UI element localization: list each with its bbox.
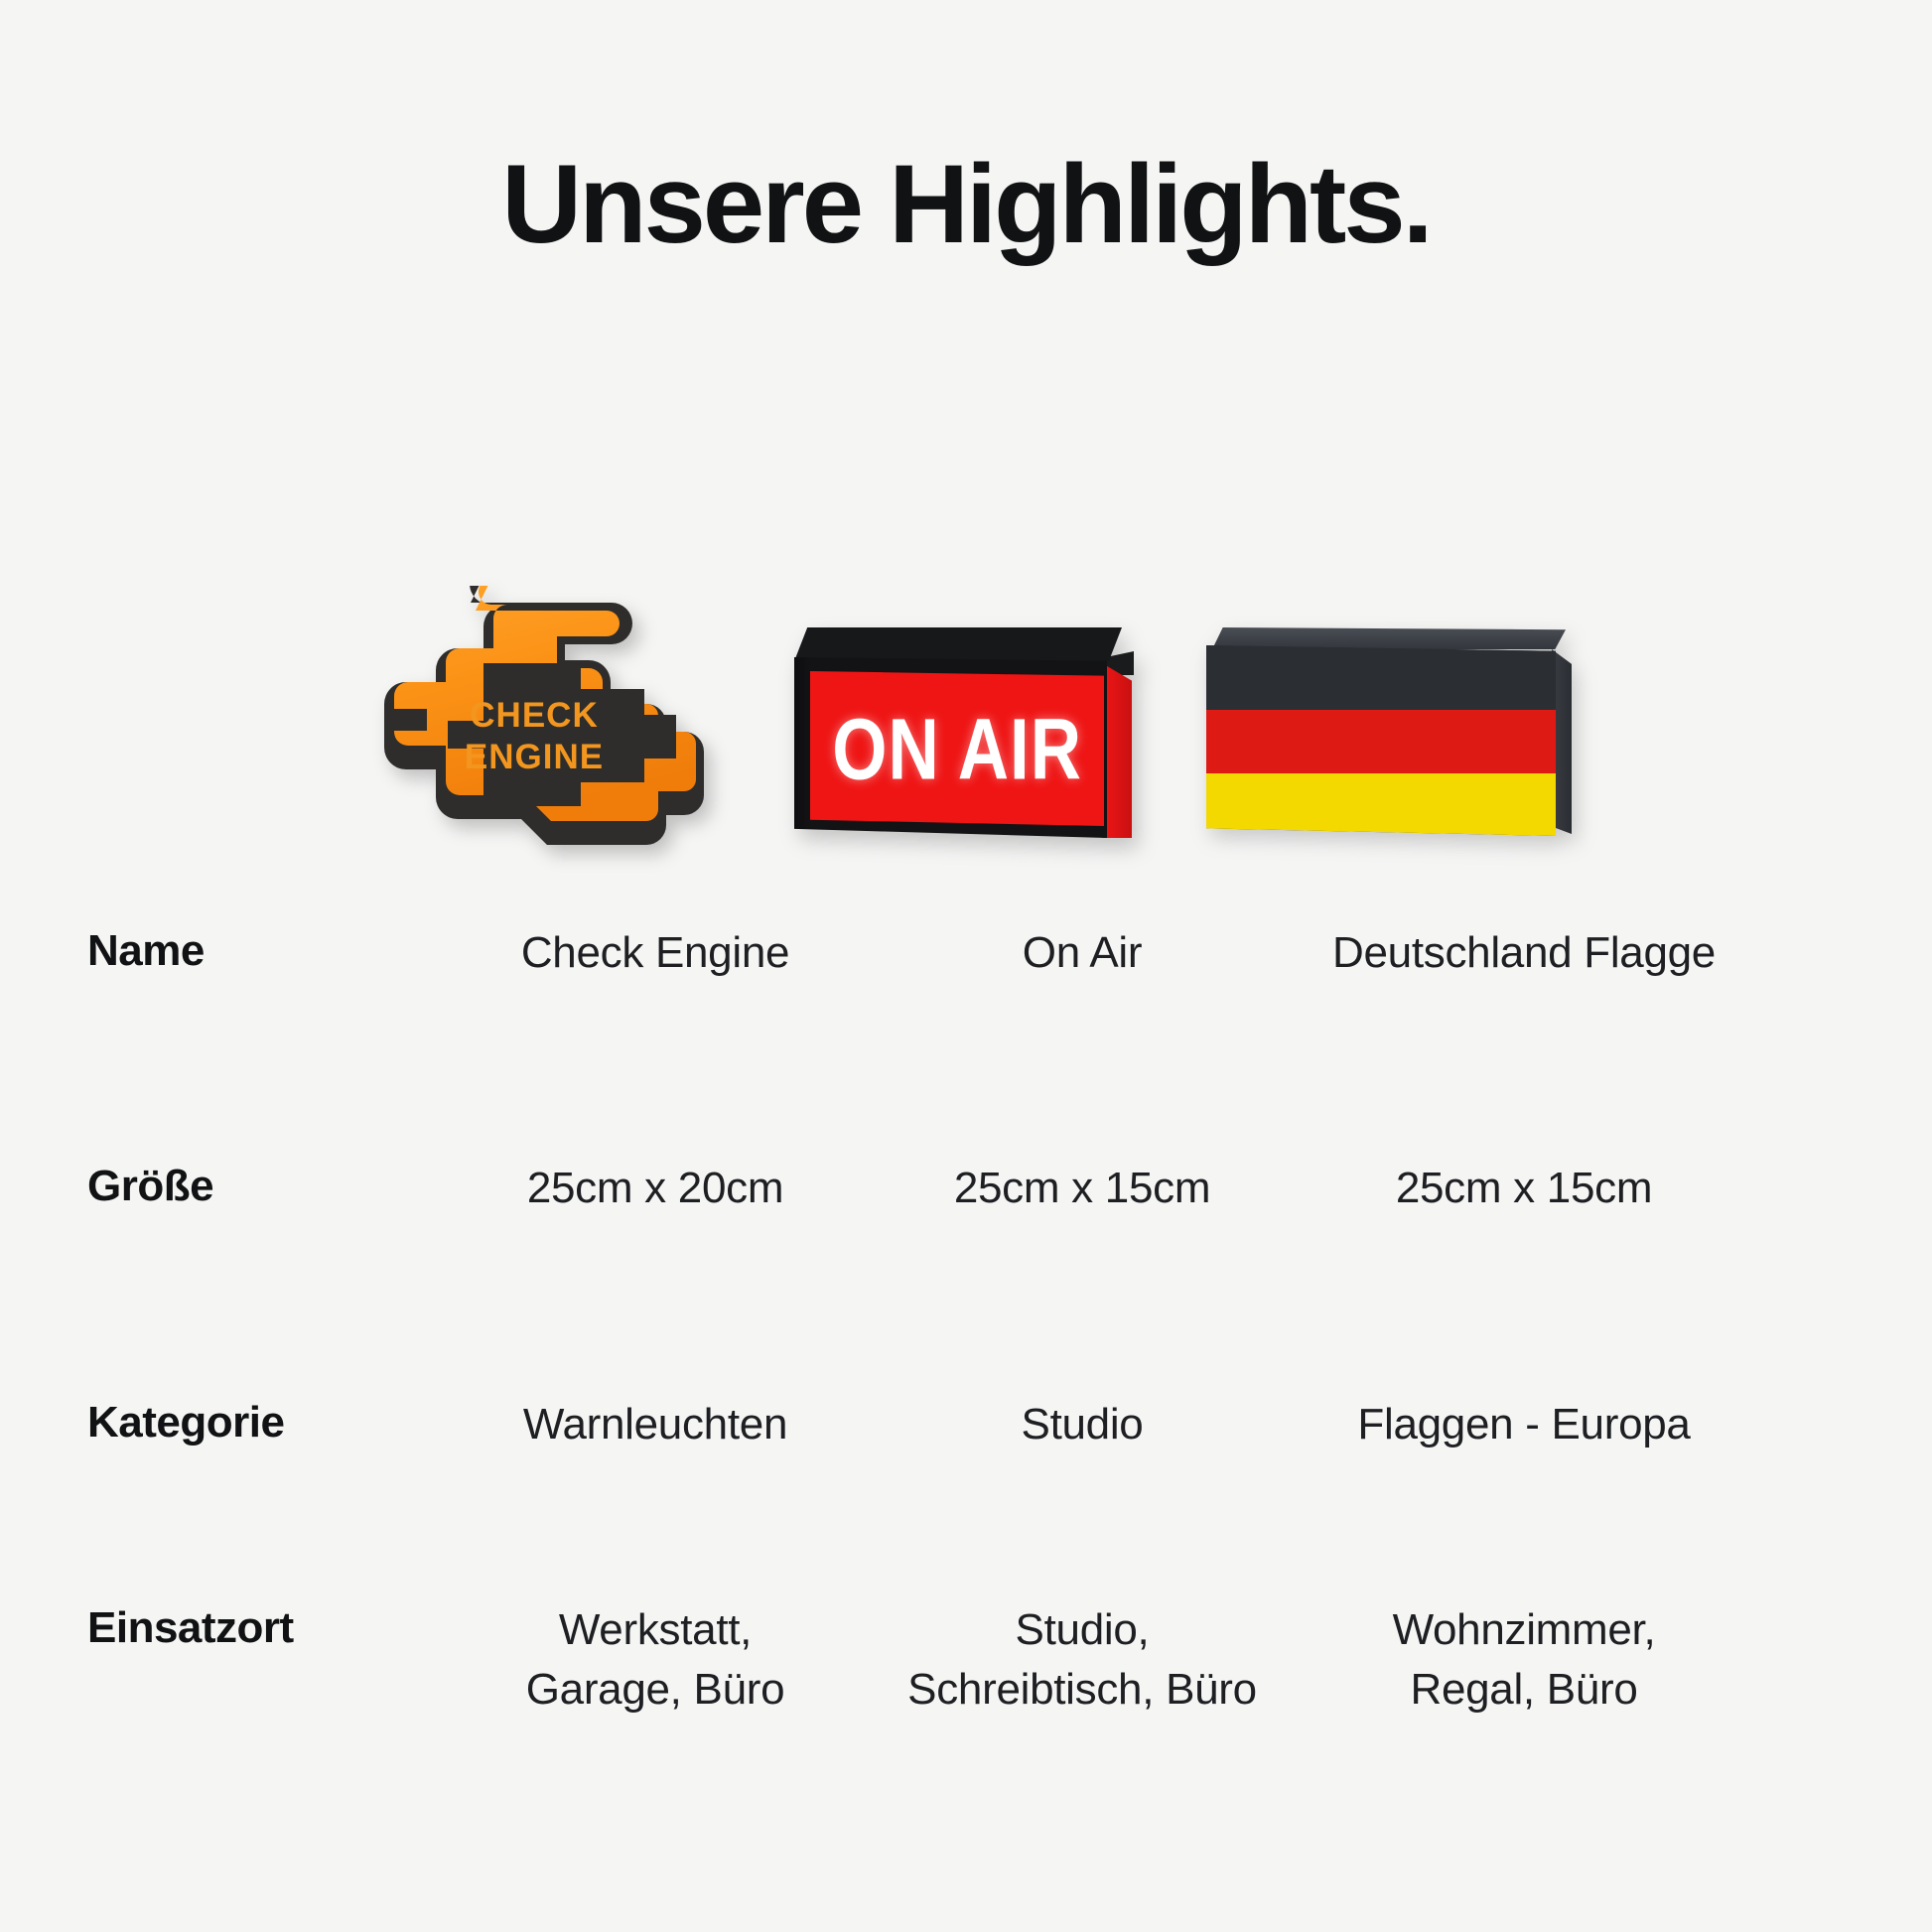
svg-text:ENGINE: ENGINE bbox=[465, 738, 604, 776]
cell-size-check-engine: 25cm x 20cm bbox=[437, 1159, 874, 1217]
usage-line-1: Wohnzimmer, bbox=[1291, 1600, 1757, 1659]
highlights-page: Unsere Highlights. bbox=[0, 0, 1932, 1932]
usage-line-1: Studio, bbox=[874, 1600, 1291, 1659]
flag-box-face bbox=[1206, 645, 1556, 836]
cell-category-on-air: Studio bbox=[874, 1395, 1291, 1453]
product-image-on-air[interactable]: ON AIR bbox=[764, 556, 1181, 854]
table-row: Kategorie Warnleuchten Studio Flaggen - … bbox=[0, 1395, 1932, 1453]
table-row: Größe 25cm x 20cm 25cm x 15cm 25cm x 15c… bbox=[0, 1159, 1932, 1217]
cell-category-check-engine: Warnleuchten bbox=[437, 1395, 874, 1453]
cell-usage-germany-flag: Wohnzimmer, Regal, Büro bbox=[1291, 1600, 1757, 1719]
product-image-germany-flag[interactable] bbox=[1162, 556, 1628, 854]
row-spacer bbox=[0, 1453, 1932, 1600]
cell-usage-check-engine: Werkstatt, Garage, Büro bbox=[437, 1600, 874, 1719]
usage-line-2: Regal, Büro bbox=[1291, 1660, 1757, 1719]
spec-table: Name Check Engine On Air Deutschland Fla… bbox=[0, 923, 1932, 1719]
germany-flag-lamp-icon bbox=[1206, 627, 1584, 846]
on-air-text: ON AIR bbox=[832, 699, 1082, 798]
check-engine-lamp-icon: CHECK ENGINE bbox=[347, 586, 755, 854]
flag-stripe-black bbox=[1206, 645, 1556, 710]
row-spacer bbox=[0, 982, 1932, 1159]
svg-text:CHECK: CHECK bbox=[470, 696, 598, 735]
cell-usage-on-air: Studio, Schreibtisch, Büro bbox=[874, 1600, 1291, 1719]
flag-stripe-red bbox=[1206, 710, 1556, 772]
usage-line-2: Garage, Büro bbox=[437, 1660, 874, 1719]
row-spacer bbox=[0, 1218, 1932, 1395]
row-label-groesse: Größe bbox=[0, 1159, 437, 1214]
cell-size-on-air: 25cm x 15cm bbox=[874, 1159, 1291, 1217]
table-row: Name Check Engine On Air Deutschland Fla… bbox=[0, 923, 1932, 982]
row-label-kategorie: Kategorie bbox=[0, 1395, 437, 1450]
cell-name-germany-flag: Deutschland Flagge bbox=[1291, 923, 1757, 982]
on-air-lightbox-icon: ON AIR bbox=[794, 627, 1152, 846]
cell-category-germany-flag: Flaggen - Europa bbox=[1291, 1395, 1757, 1453]
cell-name-check-engine: Check Engine bbox=[437, 923, 874, 982]
on-air-box-face: ON AIR bbox=[810, 671, 1104, 826]
usage-line-2: Schreibtisch, Büro bbox=[874, 1660, 1291, 1719]
usage-line-1: Werkstatt, bbox=[437, 1600, 874, 1659]
product-image-check-engine[interactable]: CHECK ENGINE bbox=[328, 556, 774, 854]
flag-box-top bbox=[1212, 627, 1566, 649]
product-image-row: CHECK ENGINE ON AIR bbox=[328, 556, 1876, 854]
on-air-box-top bbox=[794, 627, 1122, 661]
row-label-name: Name bbox=[0, 923, 437, 979]
table-row: Einsatzort Werkstatt, Garage, Büro Studi… bbox=[0, 1600, 1932, 1719]
flag-stripe-gold bbox=[1206, 773, 1556, 836]
row-label-einsatzort: Einsatzort bbox=[0, 1600, 437, 1656]
cell-name-on-air: On Air bbox=[874, 923, 1291, 982]
page-title: Unsere Highlights. bbox=[0, 149, 1932, 260]
cell-size-germany-flag: 25cm x 15cm bbox=[1291, 1159, 1757, 1217]
